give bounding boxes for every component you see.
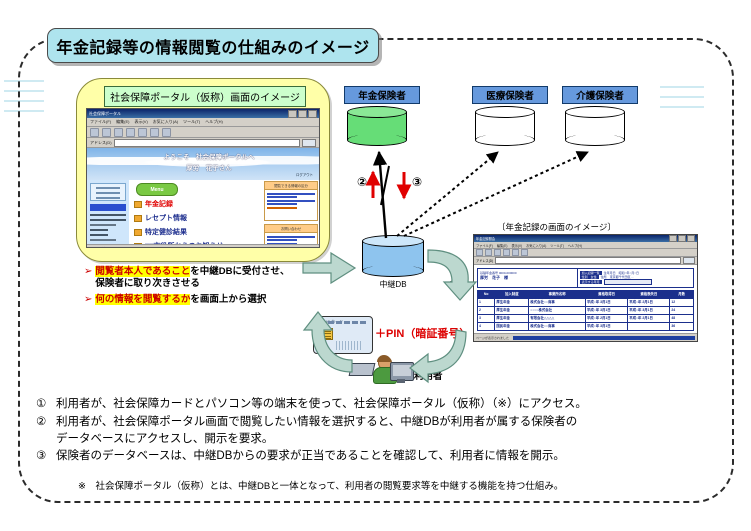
cell-no: 4 [478, 323, 495, 331]
insurer-label-medical: 医療保険者 [472, 86, 548, 104]
col-office: 事業所名称 [529, 291, 586, 299]
right-panel-header: 閲覧できる情報の区分 [264, 181, 318, 190]
pin-label: ＋PIN（暗証番号） [375, 325, 470, 341]
search-input[interactable] [604, 279, 652, 285]
cell-system: 厚生年金 [495, 315, 529, 323]
menu-help[interactable]: ヘルプ(H) [205, 119, 223, 125]
portal-right-column: 閲覧できる情報の区分 お問い合わせ [263, 180, 319, 248]
cell-office: 有限会社△△△△ [529, 315, 586, 323]
record-statusbar: ページが表示されました [474, 333, 698, 341]
menu-view[interactable]: 表示(V) [134, 119, 147, 125]
browser-menubar[interactable]: ファイル(F) 編集(E) 表示(V) お気に入り(A) ツール(T) ヘルプ(… [87, 118, 319, 127]
left-nav-line[interactable] [90, 239, 116, 241]
maximize-icon[interactable] [678, 235, 686, 242]
forward-icon[interactable] [485, 249, 492, 256]
stop-icon[interactable] [494, 249, 501, 256]
cell-acquire: 平成○年 3月1日 [585, 323, 627, 331]
callout-highlight: 閲覧者本人であること [95, 266, 190, 277]
user-figure-icon [368, 356, 414, 386]
browser-statusbar: ページが表示されました [87, 244, 320, 248]
explanation-item-2: ② 利用者が、社会保障ポータル画面で閲覧したい情報を選択すると、中継DBが利用者… [36, 414, 726, 431]
portal-caption: 社会保障ポータル（仮称）画面のイメージ [104, 86, 306, 107]
step-marker-2: ② [357, 175, 367, 189]
left-nav-line[interactable] [90, 219, 126, 221]
bullet-chevron-icon: ➢ [84, 294, 92, 305]
cell-acquire: 平成○年 2月1日 [585, 315, 627, 323]
insurer-label-care: 介護保険者 [562, 86, 638, 104]
forward-icon[interactable] [102, 128, 111, 137]
back-icon[interactable] [90, 128, 99, 137]
relay-db-label: 中継DB [379, 279, 406, 290]
step-marker-3: ③ [412, 175, 422, 189]
progress-bar [513, 336, 695, 340]
menu-favorites[interactable]: お気に入り(A) [153, 119, 178, 125]
col-months: 月数 [670, 291, 694, 299]
portal-callout-list: ➢ 閲覧者本人であることを中継DBに受付させ、 保険者に取り次きさせる ➢ 何の… [84, 266, 314, 311]
portal-menu-item-receipt[interactable]: レセプト情報 [134, 213, 265, 223]
window-buttons[interactable] [288, 110, 317, 118]
menu-file[interactable]: ファイル(F) [90, 119, 111, 125]
left-nav-button[interactable] [90, 204, 126, 211]
back-icon[interactable] [476, 249, 483, 256]
page-title: 年金記録等の情報閲覧の仕組みのイメージ [56, 34, 369, 58]
minimize-icon[interactable] [288, 110, 297, 118]
menu-file[interactable]: ファイル(F) [476, 243, 493, 248]
col-no: No [478, 291, 495, 299]
cell-lose [628, 323, 670, 331]
logout-link[interactable]: ログアウト [296, 172, 313, 177]
explanation-list: ① 利用者が、社会保障カードとパソコン等の端末を使って、社会保障ポータル（仮称）… [36, 396, 726, 465]
explanation-text: 利用者が、社会保障カードとパソコン等の端末を使って、社会保障ポータル（仮称）（※… [56, 396, 726, 413]
explanation-text: 利用者が、社会保障ポータル画面で閲覧したい情報を選択すると、中継DBが利用者が属… [56, 414, 726, 431]
record-page-body: 基礎年金番号 0000-000000 厚労 花子 様 加入記録一覧生年月日 昭和… [474, 265, 697, 337]
database-pension [347, 106, 407, 146]
callout-item-identity: ➢ 閲覧者本人であることを中継DBに受付させ、 保険者に取り次きさせる [84, 266, 314, 289]
bullet-arrow-icon [134, 229, 142, 236]
cell-months: 12 [670, 299, 694, 307]
user-label: 利用者 [414, 368, 443, 382]
go-button[interactable] [683, 257, 695, 264]
cell-acquire: 平成○年 3月1日 [585, 299, 627, 307]
ic-card: IC カード [313, 316, 373, 354]
explanation-item-1: ① 利用者が、社会保障カードとパソコン等の端末を使って、社会保障ポータル（仮称）… [36, 396, 726, 413]
portal-left-column [87, 180, 129, 248]
browser-toolbar[interactable] [87, 127, 319, 138]
stop-icon[interactable] [114, 128, 123, 137]
welcome-message: ようこそ 社会保障ポータルへ 厚労 花子さん [139, 152, 279, 174]
portal-menu-label: 特定健診結果 [145, 227, 187, 237]
search-icon[interactable] [150, 128, 159, 137]
table-row: 3 厚生年金 有限会社△△△△ 平成○年 2月1日 平成○年 2月1日 48 [478, 315, 694, 323]
cell-lose: 平成○年 2月1日 [628, 299, 670, 307]
address-label: アドレス(D) [476, 258, 493, 263]
ic-card-barcode [336, 341, 362, 350]
record-toolbar[interactable] [474, 249, 697, 257]
explanation-text: 保険者のデータベースは、中継DBからの要求が正当であることを確認して、利用者に情… [56, 448, 726, 465]
callout-rest: を中継DBに受付させ、 [190, 266, 289, 277]
explanation-continuation: データベースにアクセスし、開示を要求。 [56, 431, 726, 448]
home-icon[interactable] [512, 249, 519, 256]
go-button[interactable] [302, 139, 316, 147]
cell-no: 3 [478, 315, 495, 323]
record-menubar[interactable]: ファイル(F) 編集(E) 表示(V) お気に入り(A) ツール(T) ヘルプ(… [474, 242, 697, 249]
menu-tools[interactable]: ツール(T) [550, 243, 564, 248]
address-input[interactable] [495, 257, 681, 264]
browser-window-title: 社会保障ポータル [89, 111, 288, 117]
callout-rest: を画面上から選択 [190, 294, 266, 305]
minimize-icon[interactable] [669, 235, 677, 242]
cell-office: ○○○○株式会社 [529, 307, 586, 315]
welcome-line-2: 厚労 花子さん [139, 163, 279, 174]
table-row: 1 厚生年金 株式会社○○商事 平成○年 3月1日 平成○年 2月1日 12 [478, 299, 694, 307]
portal-menu-label: 年金記録 [145, 199, 173, 209]
favorites-icon[interactable] [162, 128, 171, 137]
welcome-line-1: ようこそ 社会保障ポータルへ [139, 152, 279, 163]
close-icon[interactable] [308, 110, 317, 118]
diagram-canvas: 年金記録等の情報閲覧の仕組みのイメージ 社会保障ポータル（仮称）画面のイメージ … [0, 0, 751, 531]
print-icon[interactable] [521, 249, 528, 256]
cell-system: 厚生年金 [495, 299, 529, 307]
cell-lose: 平成○年 3月1日 [628, 307, 670, 315]
cell-no: 2 [478, 307, 495, 315]
record-screen-caption: 〔年金記録の画面のイメージ〕 [497, 221, 616, 233]
portal-page-body: ようこそ 社会保障ポータルへ 厚労 花子さん ログアウト Menu 年金記録 [87, 148, 319, 248]
maximize-icon[interactable] [298, 110, 307, 118]
col-lose: 資格喪失日 [628, 291, 670, 299]
portal-menu-label: レセプト情報 [145, 213, 187, 223]
left-nav-line[interactable] [90, 229, 108, 231]
ic-card-stripe [320, 321, 368, 324]
cell-system: 国民年金 [495, 323, 529, 331]
step-marker-3-right: ③ [448, 278, 458, 292]
right-panel-header: お問い合わせ [264, 224, 318, 233]
refresh-icon[interactable] [126, 128, 135, 137]
table-header-row: No 加入制度 事業所名称 資格取得日 資格喪失日 月数 [478, 291, 694, 299]
cell-office: 株式会社○○商事 [529, 323, 586, 331]
footnote-text: ※ 社会保障ポータル（仮称）とは、中継DBと一体となって、利用者の閲覧要求等を中… [78, 478, 563, 492]
cell-lose: 平成○年 2月1日 [628, 315, 670, 323]
portal-menu-item-checkup[interactable]: 特定健診結果 [134, 227, 265, 237]
refresh-icon[interactable] [503, 249, 510, 256]
explanation-item-3: ③ 保険者のデータベースは、中継DBからの要求が正当であることを確認して、利用者… [36, 448, 726, 465]
record-header-box: 基礎年金番号 0000-000000 厚労 花子 様 加入記録一覧生年月日 昭和… [477, 268, 694, 288]
insurer-label-pension: 年金保険者 [344, 86, 420, 104]
cell-months: 24 [670, 307, 694, 315]
menu-help[interactable]: ヘルプ(H) [568, 243, 582, 248]
cell-no: 1 [478, 299, 495, 307]
table-row: 2 厚生年金 ○○○○株式会社 平成○年 3月1日 平成○年 3月1日 24 [478, 307, 694, 315]
browser-addressbar[interactable]: アドレス(D) [87, 138, 319, 148]
right-panel-body [264, 190, 318, 221]
left-info-box [90, 183, 126, 201]
callout-item-selection: ➢ 何の情報を閲覧するかを画面上から選択 [84, 294, 314, 306]
close-icon[interactable] [687, 235, 695, 242]
cell-office: 株式会社○○商事 [529, 299, 586, 307]
bullet-chevron-icon: ➢ [84, 266, 92, 277]
explanation-number: ③ [36, 448, 50, 465]
portal-menu-item-pension[interactable]: 年金記録 [134, 199, 265, 209]
pension-record-table: No 加入制度 事業所名称 資格取得日 資格喪失日 月数 1 厚生年金 株式会社… [477, 290, 694, 331]
address-input[interactable] [114, 139, 300, 147]
ic-chip-icon [319, 328, 333, 340]
cell-system: 厚生年金 [495, 307, 529, 315]
portal-browser-mockup: 社会保障ポータル ファイル(F) 編集(E) 表示(V) お気に入り(A) ツー… [86, 108, 320, 248]
callout-highlight: 何の情報を閲覧するか [95, 294, 190, 305]
database-medical [475, 106, 535, 146]
home-icon[interactable] [138, 128, 147, 137]
portal-menu-column: Menu 年金記録 レセプト情報 特定健診結果 □□市役所からのお知らせ [129, 180, 265, 248]
browser-titlebar: 社会保障ポータル [87, 109, 319, 118]
cell-months: 36 [670, 323, 694, 331]
cell-acquire: 平成○年 3月1日 [585, 307, 627, 315]
explanation-number: ② [36, 414, 50, 431]
menu-edit[interactable]: 編集(E) [497, 243, 508, 248]
left-nav-line[interactable] [90, 234, 108, 236]
holder-name: 厚労 花子 様 [480, 275, 575, 281]
record-window-title: 年金記録照会 [476, 236, 668, 241]
menu-tools[interactable]: ツール(T) [183, 119, 200, 125]
callout-second-line: 保険者に取り次きさせる [95, 278, 200, 289]
cell-months: 48 [670, 315, 694, 323]
left-nav-line[interactable] [90, 214, 126, 216]
table-row: 4 国民年金 株式会社○○商事 平成○年 3月1日 36 [478, 323, 694, 331]
menu-badge: Menu [136, 183, 178, 196]
col-acquire: 資格取得日 [585, 291, 627, 299]
record-addressbar[interactable]: アドレス(D) [474, 257, 697, 265]
search-field-label: 表示する年月 [580, 280, 602, 284]
menu-view[interactable]: 表示(V) [511, 243, 522, 248]
address-label: アドレス(D) [90, 140, 112, 146]
record-screen-mockup: 年金記録照会 ファイル(F) 編集(E) 表示(V) お気に入り(A) ツール(… [473, 234, 698, 342]
explanation-number: ① [36, 396, 50, 413]
bullet-arrow-icon [134, 201, 142, 208]
diagram-title-banner: 年金記録等の情報閲覧の仕組みのイメージ [47, 28, 379, 63]
left-nav-line[interactable] [90, 224, 116, 226]
record-status-text: ページが表示されました [476, 336, 509, 340]
bullet-arrow-icon [134, 215, 142, 222]
record-titlebar: 年金記録照会 [474, 235, 697, 242]
menu-edit[interactable]: 編集(E) [116, 119, 129, 125]
database-relay: 中継DB [362, 235, 424, 277]
menu-favorites[interactable]: お気に入り(A) [526, 243, 546, 248]
col-system: 加入制度 [495, 291, 529, 299]
database-care [565, 106, 625, 146]
